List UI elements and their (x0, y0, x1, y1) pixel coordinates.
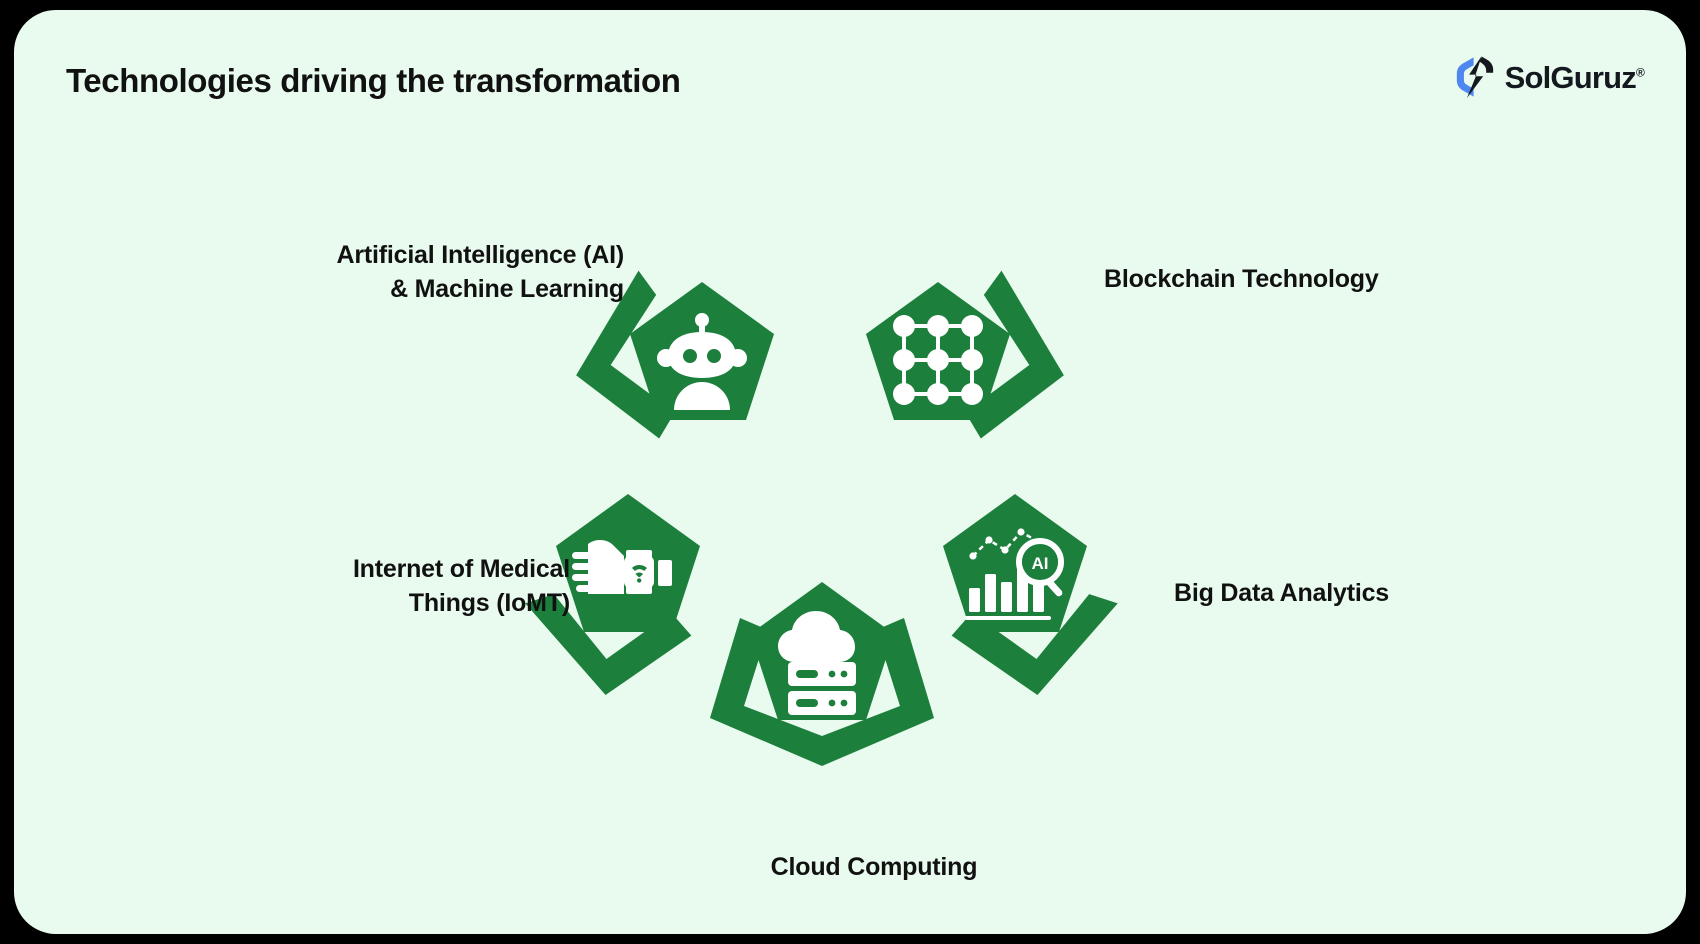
label-ai-ml-line2: & Machine Learning (204, 272, 624, 306)
blockchain-node-dots (893, 315, 983, 405)
label-blockchain: Blockchain Technology (1104, 262, 1504, 296)
solguruz-hexagon-s-logo-icon (1453, 54, 1499, 100)
label-ai-ml-line1: Artificial Intelligence (AI) (204, 238, 624, 272)
screenshot-stage: Technologies driving the transformation … (0, 0, 1700, 944)
label-big-data-line1: Big Data Analytics (1174, 576, 1574, 610)
brand-name-text: SolGuruz (1505, 60, 1636, 95)
brand-logo[interactable]: SolGuruz® (1453, 52, 1644, 102)
label-cloud-computing-line1: Cloud Computing (674, 850, 1074, 884)
registered-trademark-icon: ® (1636, 65, 1644, 79)
label-big-data: Big Data Analytics (1174, 576, 1574, 610)
infographic-card: Technologies driving the transformation … (14, 10, 1686, 934)
node-cloud-computing[interactable] (722, 558, 922, 758)
node-blockchain[interactable] (838, 258, 1038, 458)
pentagon-tile-bigdata (943, 494, 1087, 632)
node-ai-ml[interactable] (602, 258, 802, 458)
svg-text:AI: AI (1032, 554, 1049, 573)
brand-name: SolGuruz® (1505, 62, 1644, 93)
technology-pentagon-cluster: AI (570, 258, 1110, 788)
label-ai-ml: Artificial Intelligence (AI) & Machine L… (204, 238, 624, 306)
label-blockchain-line1: Blockchain Technology (1104, 262, 1504, 296)
page-title: Technologies driving the transformation (66, 62, 681, 100)
node-big-data[interactable]: AI (915, 470, 1115, 670)
label-cloud-computing: Cloud Computing (674, 850, 1074, 884)
label-iomt: Internet of Medical Things (IoMT) (174, 552, 570, 620)
label-iomt-line1: Internet of Medical (174, 552, 570, 586)
label-iomt-line2: Things (IoMT) (174, 586, 570, 620)
